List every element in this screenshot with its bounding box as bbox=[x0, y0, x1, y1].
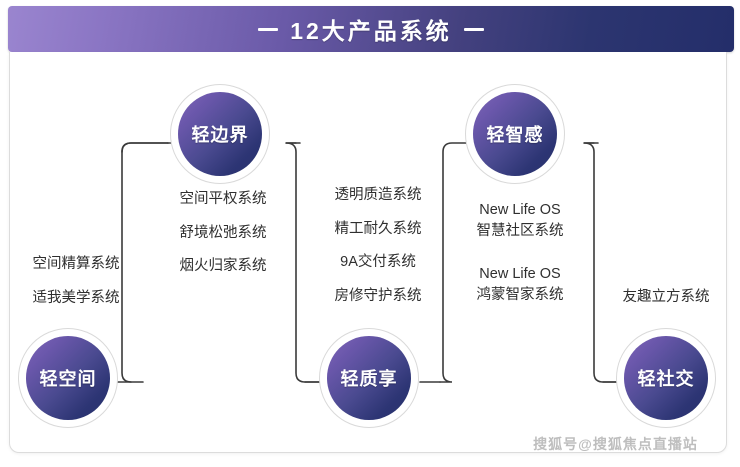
header-banner: 12大产品系统 bbox=[8, 6, 734, 52]
node-label-enjoy: 轻质享 bbox=[341, 365, 398, 391]
list-item: 友趣立方系统 bbox=[602, 288, 730, 308]
list-item-line1: New Life OS bbox=[450, 264, 590, 285]
item-list-enjoy: 透明质造系统 精工耐久系统 9A交付系统 房修守护系统 bbox=[312, 186, 444, 306]
item-list-sense: New Life OS 智慧社区系统 New Life OS 鸿蒙智家系统 bbox=[450, 200, 590, 306]
list-item-line2: 鸿蒙智家系统 bbox=[450, 285, 590, 306]
list-item: 精工耐久系统 bbox=[312, 220, 444, 240]
item-list-edge: 空间平权系统 舒境松弛系统 烟火归家系统 bbox=[155, 190, 291, 277]
list-item: 舒境松弛系统 bbox=[155, 224, 291, 244]
node-label-edge: 轻边界 bbox=[192, 121, 249, 147]
list-item: 透明质造系统 bbox=[312, 186, 444, 206]
page-title: 12大产品系统 bbox=[246, 12, 496, 46]
list-item: New Life OS 鸿蒙智家系统 bbox=[450, 264, 590, 306]
watermark: 搜狐号@搜狐焦点直播站 bbox=[498, 433, 733, 455]
list-item: 适我美学系统 bbox=[12, 289, 140, 309]
list-item: 9A交付系统 bbox=[312, 253, 444, 273]
list-item: 空间精算系统 bbox=[12, 255, 140, 275]
item-list-social: 友趣立方系统 bbox=[602, 288, 730, 308]
node-circle-social[interactable]: 轻社交 bbox=[624, 336, 708, 420]
node-label-social: 轻社交 bbox=[638, 365, 695, 391]
list-item: 房修守护系统 bbox=[312, 287, 444, 307]
node-label-sense: 轻智感 bbox=[487, 121, 544, 147]
node-label-space: 轻空间 bbox=[40, 365, 97, 391]
node-circle-space[interactable]: 轻空间 bbox=[26, 336, 110, 420]
page-title-text: 12大产品系统 bbox=[290, 18, 452, 44]
list-item: 烟火归家系统 bbox=[155, 257, 291, 277]
list-item-line1: New Life OS bbox=[450, 200, 590, 221]
watermark-text: 搜狐号@搜狐焦点直播站 bbox=[533, 434, 698, 454]
list-item-line2: 智慧社区系统 bbox=[450, 221, 590, 242]
node-circle-edge[interactable]: 轻边界 bbox=[178, 92, 262, 176]
list-item: New Life OS 智慧社区系统 bbox=[450, 200, 590, 242]
item-list-space: 空间精算系统 适我美学系统 bbox=[12, 255, 140, 308]
title-dash-left-icon bbox=[258, 28, 278, 31]
node-circle-enjoy[interactable]: 轻质享 bbox=[327, 336, 411, 420]
title-dash-right-icon bbox=[464, 28, 484, 31]
list-item: 空间平权系统 bbox=[155, 190, 291, 210]
infographic-screen: 12大产品系统 bbox=[0, 0, 740, 467]
node-circle-sense[interactable]: 轻智感 bbox=[473, 92, 557, 176]
